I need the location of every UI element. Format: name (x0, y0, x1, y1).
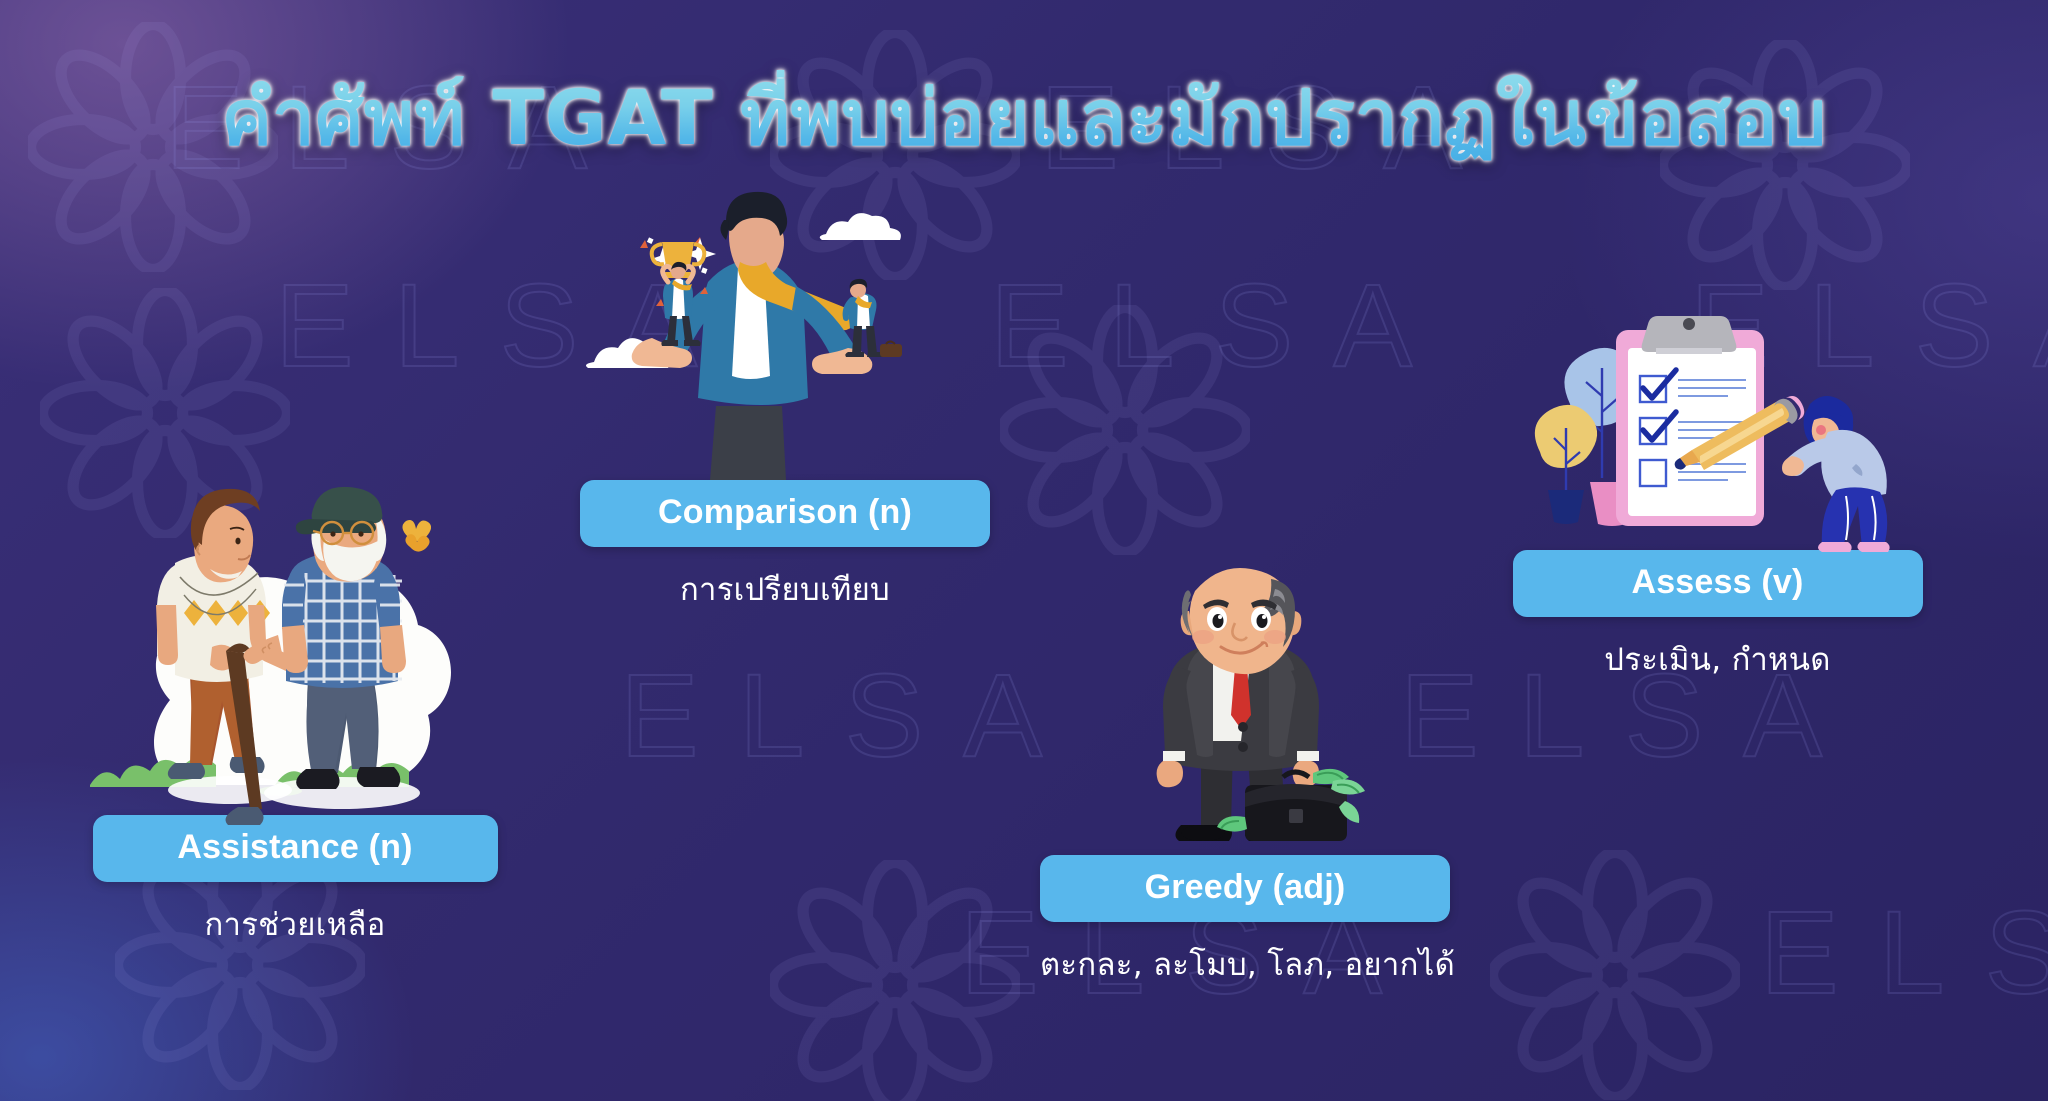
elsa-flower-watermark (1000, 305, 1250, 555)
word-card-greedy: Greedy (adj) ตะกละ, ละโมบ, โลภ, อยากได้ (1040, 555, 1450, 989)
man-holding-winner-and-loser-illustration (580, 190, 990, 480)
thai-meaning-assess: ประเมิน, กำหนด (1510, 634, 1925, 684)
elsa-wordmark-watermark: ELSA (990, 258, 1452, 394)
badge-assistance[interactable]: Assistance (n) (93, 815, 498, 882)
elsa-flower-watermark (1490, 850, 1740, 1100)
two-men-walking-with-cane-illustration (80, 485, 510, 815)
badge-greedy[interactable]: Greedy (adj) (1040, 855, 1450, 922)
thai-meaning-comparison: การเปรียบเทียบ (580, 564, 990, 614)
badge-assess[interactable]: Assess (v) (1513, 550, 1923, 617)
thai-meaning-assistance: การช่วยเหลือ (80, 899, 510, 949)
thai-meaning-greedy: ตะกละ, ละโมบ, โลภ, อยากได้ (1040, 939, 1450, 989)
word-card-comparison: Comparison (n) การเปรียบเทียบ (580, 190, 990, 614)
title-container: คำศัพท์ TGAT ที่พบบ่อยและมักปรากฏในข้อสอ… (0, 70, 2048, 165)
word-card-assess: Assess (v) ประเมิน, กำหนด (1510, 300, 1925, 684)
clipboard-checklist-with-pencil-illustration (1510, 300, 1925, 550)
page-title: คำศัพท์ TGAT ที่พบบ่อยและมักปรากฏในข้อสอ… (221, 70, 1826, 165)
infographic-poster: ELSA ELSA ELSA ELSA ELSA ELSA ELSA ELSA … (0, 0, 2048, 1101)
word-card-assistance: Assistance (n) การช่วยเหลือ (80, 485, 510, 949)
elsa-wordmark-watermark: ELSA (1760, 885, 2048, 1021)
businessman-with-money-briefcase-illustration (1040, 555, 1450, 855)
badge-comparison[interactable]: Comparison (n) (580, 480, 990, 547)
elsa-flower-watermark (770, 860, 1020, 1101)
elsa-wordmark-watermark: ELSA (620, 648, 1082, 784)
